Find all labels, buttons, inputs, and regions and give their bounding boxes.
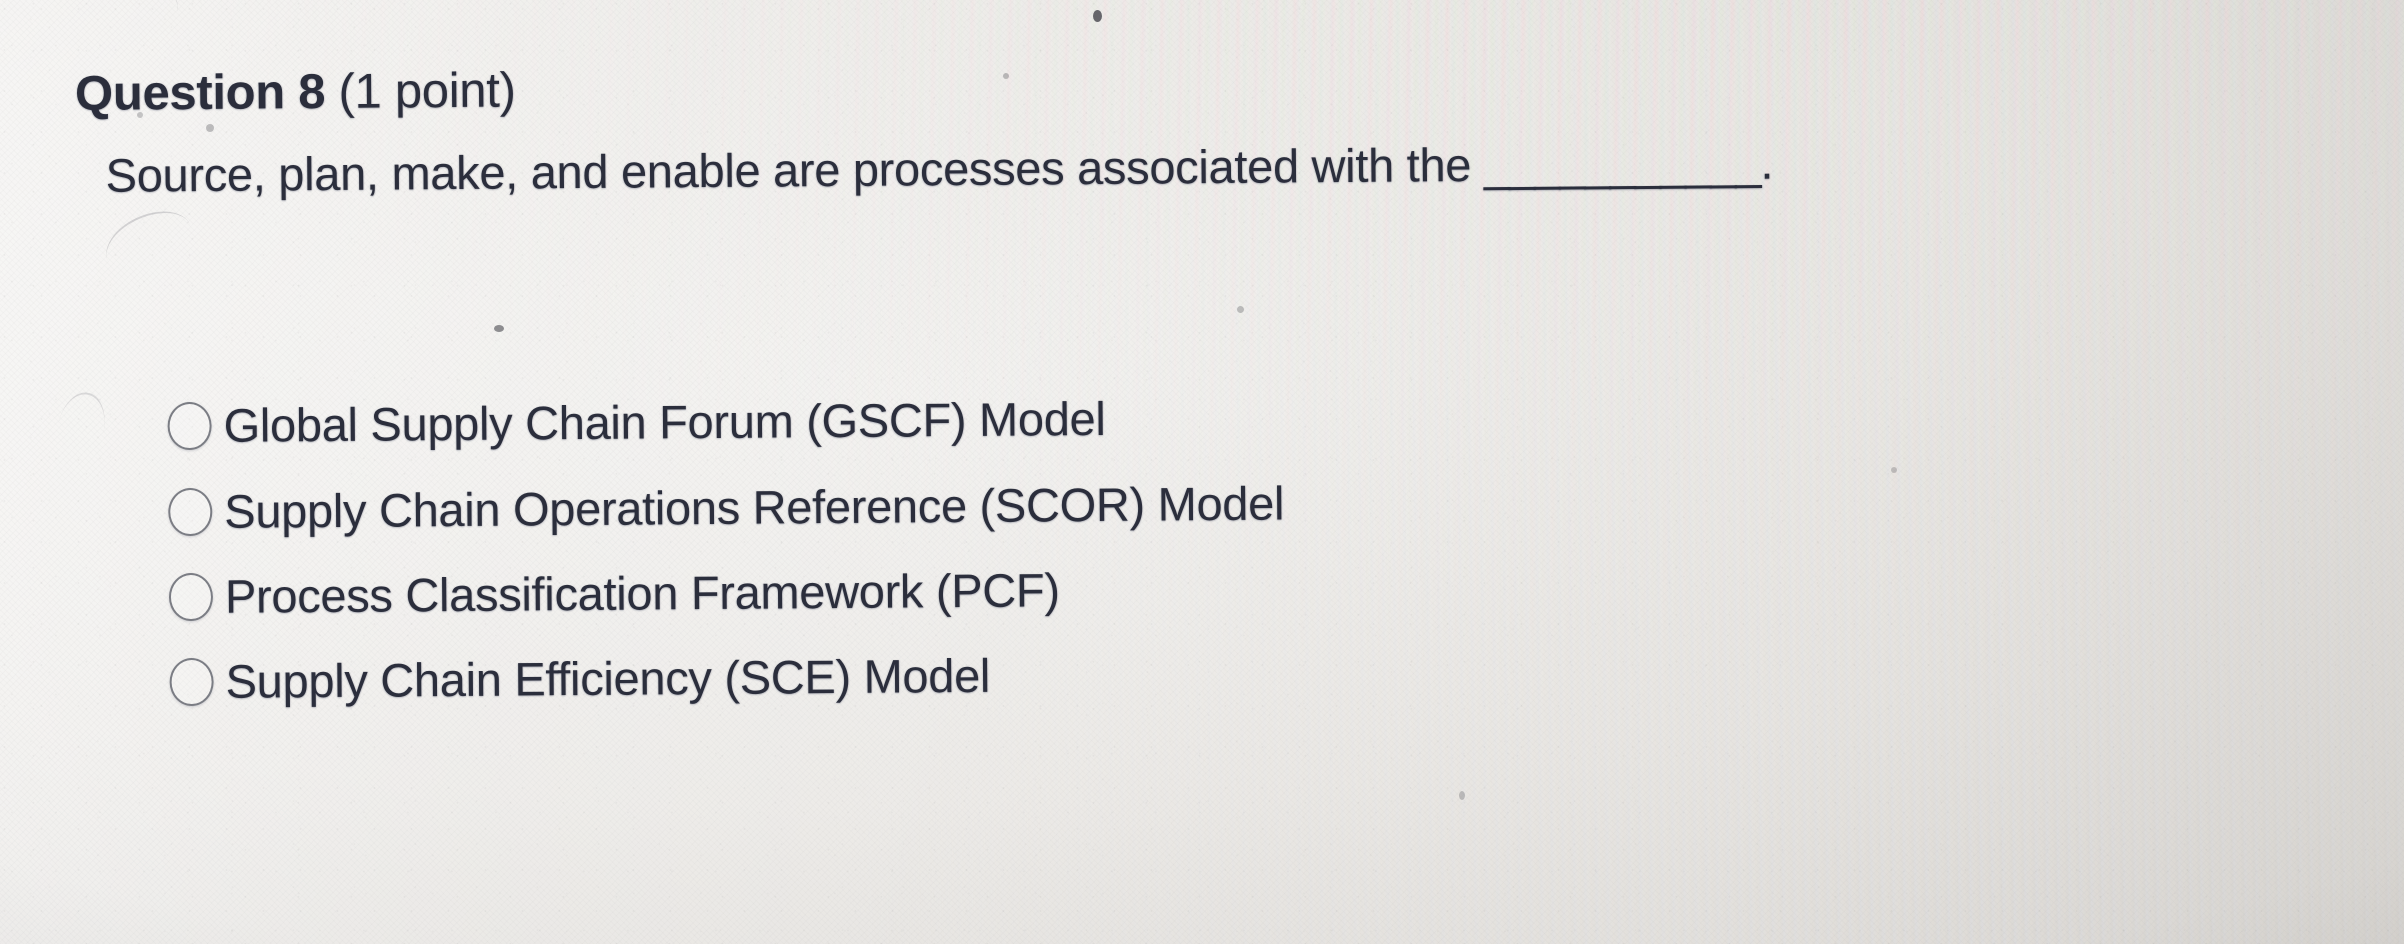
answer-option-0[interactable]: Global Supply Chain Forum (GSCF) Model <box>167 391 1105 454</box>
radio-button-icon[interactable] <box>169 573 213 621</box>
question-stem-period: . <box>1760 136 1773 189</box>
answer-option-label: Process Classification Framework (PCF) <box>225 562 1060 625</box>
radio-button-icon[interactable] <box>167 402 211 450</box>
quiz-question-photo: Question 8 (1 point) Source, plan, make,… <box>0 0 2404 944</box>
question-number: Question 8 <box>75 65 326 121</box>
answer-option-2[interactable]: Process Classification Framework (PCF) <box>169 562 1060 625</box>
question-points: (1 point) <box>338 63 515 118</box>
answer-option-label: Global Supply Chain Forum (GSCF) Model <box>223 391 1105 454</box>
question-stem-text: Source, plan, make, and enable are proce… <box>105 138 1471 202</box>
radio-button-icon[interactable] <box>169 658 213 706</box>
answer-option-label: Supply Chain Efficiency (SCE) Model <box>225 648 990 710</box>
question-header: Question 8 (1 point) <box>75 61 516 122</box>
question-stem: Source, plan, make, and enable are proce… <box>105 134 1773 205</box>
question-content: Question 8 (1 point) Source, plan, make,… <box>0 0 2404 944</box>
answer-option-1[interactable]: Supply Chain Operations Reference (SCOR)… <box>168 475 1284 540</box>
answer-option-label: Supply Chain Operations Reference (SCOR)… <box>224 475 1284 539</box>
answer-option-3[interactable]: Supply Chain Efficiency (SCE) Model <box>169 648 990 710</box>
question-blank: ___________ <box>1484 136 1761 191</box>
radio-button-icon[interactable] <box>168 488 212 536</box>
